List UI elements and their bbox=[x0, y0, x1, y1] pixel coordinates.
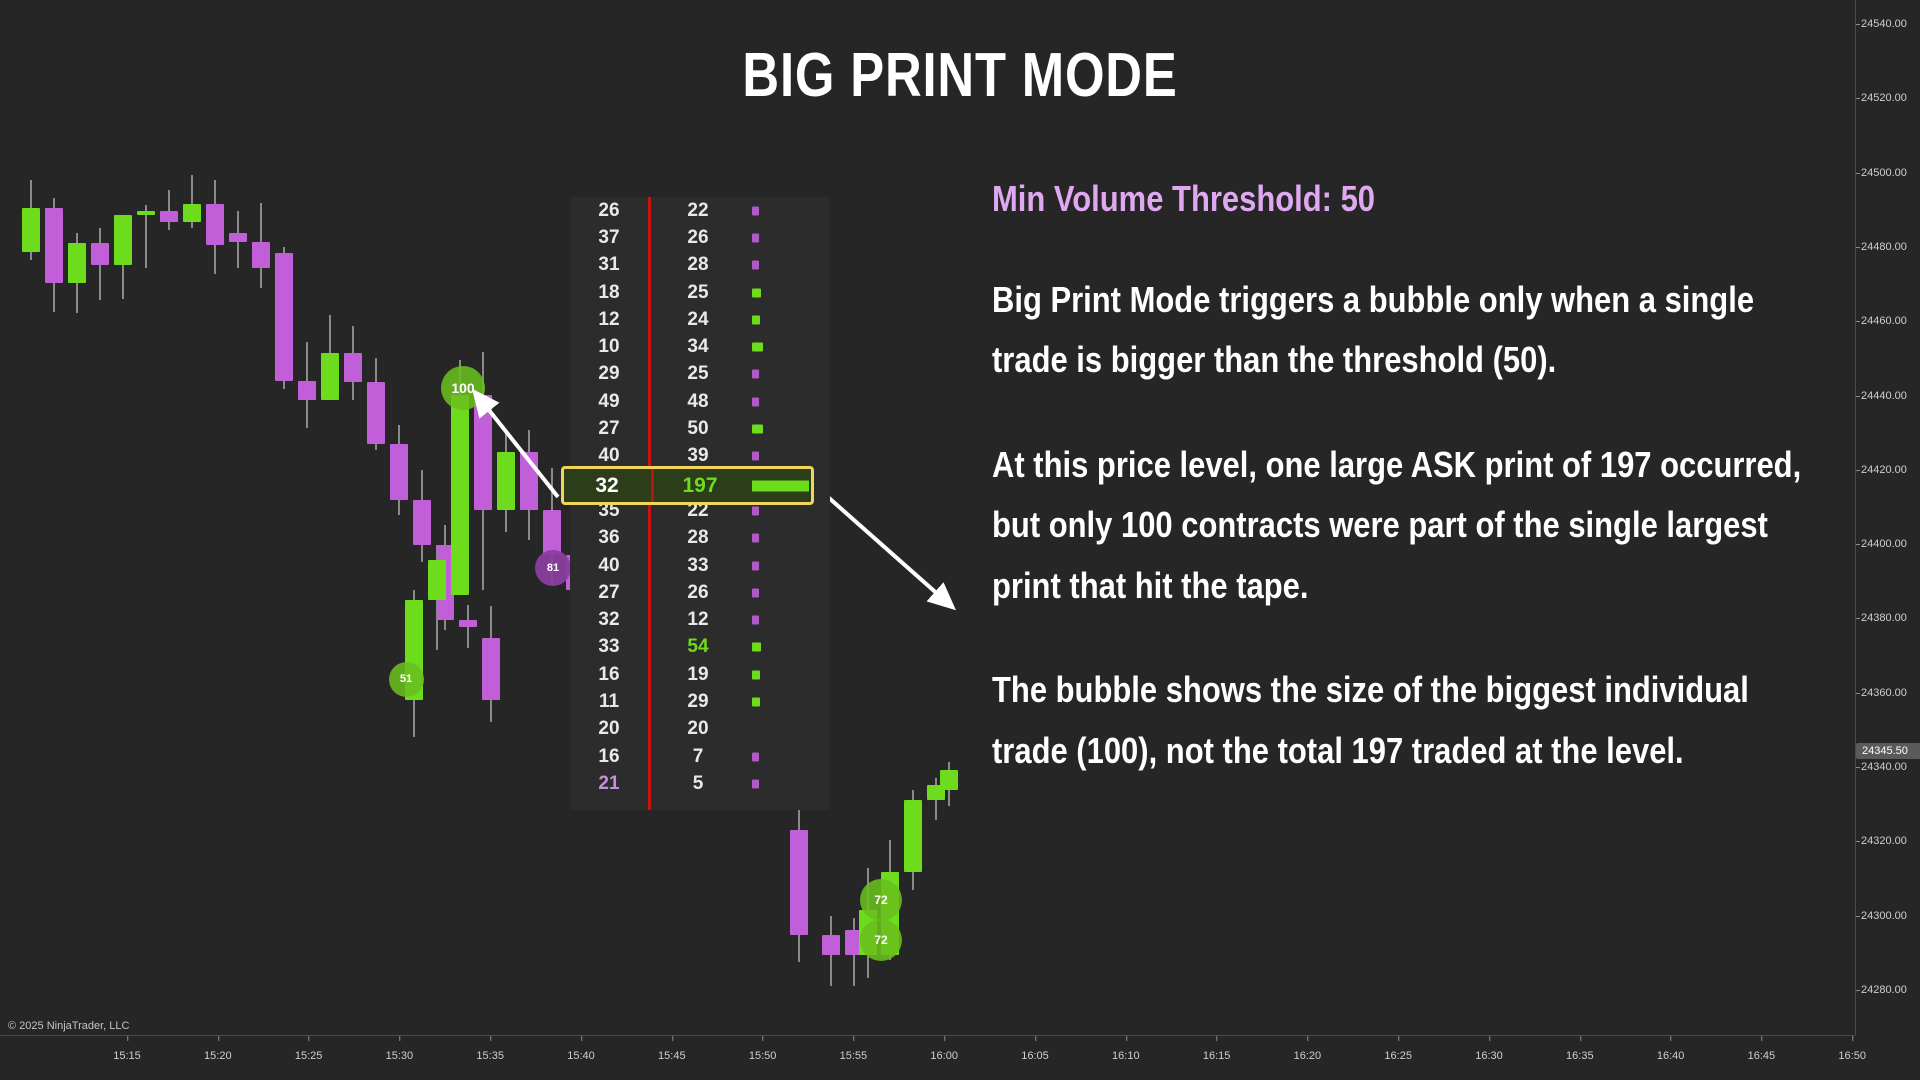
ladder-volume-bar bbox=[752, 752, 759, 761]
price-tick-label: 24440.00 bbox=[1861, 390, 1907, 402]
ladder-bar-cell bbox=[748, 415, 830, 442]
candle-body-up bbox=[22, 208, 40, 252]
ladder-bid-value: 11 bbox=[570, 691, 648, 713]
ladder-volume-bar bbox=[752, 343, 763, 352]
candle-body-down bbox=[229, 233, 247, 242]
price-tick-label: 24500.00 bbox=[1861, 167, 1907, 179]
volume-bubble[interactable]: 72 bbox=[860, 919, 902, 961]
ladder-bar-cell bbox=[748, 770, 830, 797]
highlighted-print-row[interactable]: 32 197 bbox=[561, 466, 814, 505]
price-axis: 24540.0024520.0024500.0024480.0024460.00… bbox=[1855, 0, 1920, 1035]
ladder-volume-bar bbox=[752, 643, 761, 652]
time-tick-label: 15:55 bbox=[840, 1050, 868, 1062]
candle bbox=[206, 180, 224, 274]
ladder-row[interactable]: 2622 bbox=[570, 197, 830, 224]
price-tick-label: 24400.00 bbox=[1861, 538, 1907, 550]
candle bbox=[183, 175, 201, 228]
candle-body-down bbox=[252, 242, 270, 268]
ladder-ask-value: 34 bbox=[648, 336, 748, 358]
ladder-bid-value: 26 bbox=[570, 200, 648, 222]
highlight-bar-cell bbox=[750, 469, 811, 502]
ladder-ask-value: 26 bbox=[648, 227, 748, 249]
highlight-centerline bbox=[651, 469, 654, 502]
ladder-row[interactable]: 3354 bbox=[570, 634, 830, 661]
time-tick-label: 15:40 bbox=[567, 1050, 595, 1062]
min-volume-threshold-label: Min Volume Threshold: 50 bbox=[992, 178, 1714, 220]
paragraph-1: Big Print Mode triggers a bubble only wh… bbox=[992, 270, 1831, 391]
highlight-ask-value: 197 bbox=[650, 474, 750, 498]
ladder-row[interactable]: 1825 bbox=[570, 279, 830, 306]
paragraph-2: At this price level, one large ASK print… bbox=[992, 435, 1831, 616]
ladder-ask-value: 48 bbox=[648, 391, 748, 413]
ladder-ask-value: 22 bbox=[648, 200, 748, 222]
candle bbox=[822, 916, 840, 986]
ladder-bar-cell bbox=[748, 252, 830, 279]
ladder-bid-value: 27 bbox=[570, 418, 648, 440]
ladder-volume-bar bbox=[752, 233, 759, 242]
candle bbox=[229, 211, 247, 268]
volume-bubble[interactable]: 81 bbox=[535, 550, 571, 586]
time-axis: 15:1515:2015:2515:3015:3515:4015:4515:50… bbox=[0, 1035, 1855, 1080]
candle-body-down bbox=[413, 500, 431, 545]
ladder-row[interactable]: 2726 bbox=[570, 579, 830, 606]
ladder-bar-cell bbox=[748, 743, 830, 770]
candle bbox=[275, 247, 293, 389]
time-tick-label: 16:20 bbox=[1294, 1050, 1322, 1062]
candle-body-up bbox=[68, 243, 86, 283]
price-tick-label: 24480.00 bbox=[1861, 241, 1907, 253]
candle bbox=[520, 430, 538, 540]
ladder-bar-cell bbox=[748, 361, 830, 388]
time-tick-label: 16:05 bbox=[1021, 1050, 1049, 1062]
candle bbox=[940, 762, 958, 806]
ladder-bar-cell bbox=[748, 688, 830, 715]
candle bbox=[482, 606, 500, 722]
candle-body-down bbox=[298, 381, 316, 400]
ladder-bid-value: 40 bbox=[570, 445, 648, 467]
highlight-bid-value: 32 bbox=[564, 474, 650, 498]
candle-body-up bbox=[114, 215, 132, 265]
time-tick-label: 15:25 bbox=[295, 1050, 323, 1062]
ladder-ask-value: 28 bbox=[648, 527, 748, 549]
candle bbox=[790, 806, 808, 962]
explanation-panel: Min Volume Threshold: 50 Big Print Mode … bbox=[992, 178, 1832, 825]
price-tick-label: 24460.00 bbox=[1861, 315, 1907, 327]
time-tick-label: 15:15 bbox=[113, 1050, 141, 1062]
candle bbox=[904, 790, 922, 890]
candle bbox=[91, 228, 109, 300]
ladder-bar-cell bbox=[748, 279, 830, 306]
ladder-bar-cell bbox=[748, 224, 830, 251]
time-tick-label: 16:30 bbox=[1475, 1050, 1503, 1062]
time-tick-label: 16:40 bbox=[1657, 1050, 1685, 1062]
candle-body-down bbox=[822, 935, 840, 955]
candle-body-down bbox=[206, 204, 224, 245]
candle bbox=[497, 432, 515, 532]
time-tick-label: 16:15 bbox=[1203, 1050, 1231, 1062]
time-tick-label: 16:25 bbox=[1384, 1050, 1412, 1062]
candle bbox=[321, 315, 339, 395]
candle bbox=[137, 205, 155, 268]
candle-body-down bbox=[45, 208, 63, 283]
ladder-bar-cell bbox=[748, 716, 830, 743]
ladder-volume-bar bbox=[752, 506, 759, 515]
time-tick-label: 16:45 bbox=[1748, 1050, 1776, 1062]
candle bbox=[390, 425, 408, 515]
time-tick-label: 16:35 bbox=[1566, 1050, 1594, 1062]
candle-body-down bbox=[160, 211, 178, 222]
ladder-row[interactable]: 2020 bbox=[570, 716, 830, 743]
volume-bubble[interactable]: 100 bbox=[441, 366, 485, 410]
ladder-row[interactable]: 1129 bbox=[570, 688, 830, 715]
ladder-bid-value: 16 bbox=[570, 664, 648, 686]
ladder-volume-bar bbox=[752, 534, 759, 543]
candle-body-down bbox=[790, 830, 808, 935]
ladder-row[interactable]: 3628 bbox=[570, 525, 830, 552]
ladder-bid-value: 37 bbox=[570, 227, 648, 249]
ladder-row[interactable]: 2750 bbox=[570, 415, 830, 442]
ladder-ask-value: 54 bbox=[648, 636, 748, 658]
ladder-row[interactable]: 1034 bbox=[570, 334, 830, 361]
price-tick-label: 24540.00 bbox=[1861, 18, 1907, 30]
ladder-ask-value: 50 bbox=[648, 418, 748, 440]
time-tick-label: 15:20 bbox=[204, 1050, 232, 1062]
candle-body-up bbox=[428, 560, 446, 600]
price-tick-label: 24340.00 bbox=[1861, 761, 1907, 773]
copyright-notice: © 2025 NinjaTrader, LLC bbox=[8, 1020, 129, 1032]
ladder-volume-bar bbox=[752, 261, 759, 270]
ladder-bid-value: 12 bbox=[570, 309, 648, 331]
candle-body-down bbox=[91, 243, 109, 265]
candle bbox=[68, 233, 86, 313]
candle-body-up bbox=[451, 395, 469, 595]
ladder-bid-value: 21 bbox=[570, 773, 648, 795]
candle bbox=[45, 198, 63, 312]
candle-body-up bbox=[183, 204, 201, 222]
candle-body-down bbox=[367, 382, 385, 444]
last-price-marker: 24345.50 bbox=[1856, 743, 1920, 759]
candle bbox=[367, 358, 385, 450]
ladder-row[interactable]: 3212 bbox=[570, 607, 830, 634]
ladder-ask-value: 24 bbox=[648, 309, 748, 331]
ladder-bar-cell bbox=[748, 306, 830, 333]
ladder-row[interactable]: 215 bbox=[570, 770, 830, 797]
candle bbox=[252, 203, 270, 288]
ladder-row[interactable]: 167 bbox=[570, 743, 830, 770]
time-tick-label: 15:50 bbox=[749, 1050, 777, 1062]
time-tick-label: 16:00 bbox=[930, 1050, 958, 1062]
ladder-bid-value: 33 bbox=[570, 636, 648, 658]
ladder-ask-value: 12 bbox=[648, 609, 748, 631]
ladder-volume-bar bbox=[752, 397, 759, 406]
ladder-row[interactable]: 1224 bbox=[570, 306, 830, 333]
price-tick-label: 24300.00 bbox=[1861, 910, 1907, 922]
ladder-bar-cell bbox=[748, 388, 830, 415]
volume-bubble[interactable]: 51 bbox=[389, 662, 424, 697]
ladder-volume-bar bbox=[752, 315, 760, 324]
ladder-bid-value: 32 bbox=[570, 609, 648, 631]
candle-body-down bbox=[520, 452, 538, 510]
ladder-volume-bar bbox=[752, 698, 760, 707]
ladder-bar-cell bbox=[748, 661, 830, 688]
time-tick-label: 16:10 bbox=[1112, 1050, 1140, 1062]
time-tick-label: 15:45 bbox=[658, 1050, 686, 1062]
ladder-row[interactable]: 1619 bbox=[570, 661, 830, 688]
candle bbox=[114, 221, 132, 299]
price-tick-label: 24380.00 bbox=[1861, 612, 1907, 624]
ladder-bid-value: 40 bbox=[570, 555, 648, 577]
ladder-volume-bar bbox=[752, 288, 761, 297]
candle-body-down bbox=[344, 353, 362, 382]
highlight-volume-bar bbox=[752, 480, 809, 491]
ladder-row[interactable]: 2925 bbox=[570, 361, 830, 388]
ladder-volume-bar bbox=[752, 206, 759, 215]
ladder-bar-cell bbox=[748, 197, 830, 224]
price-tick-label: 24280.00 bbox=[1861, 984, 1907, 996]
candle bbox=[160, 190, 178, 230]
ladder-bar-cell bbox=[748, 525, 830, 552]
ladder-ask-value: 29 bbox=[648, 691, 748, 713]
page-title: BIG PRINT MODE bbox=[173, 40, 1747, 111]
candle-body-up bbox=[940, 770, 958, 790]
price-tick-label: 24520.00 bbox=[1861, 92, 1907, 104]
candle bbox=[344, 326, 362, 400]
paragraph-3: The bubble shows the size of the biggest… bbox=[992, 660, 1831, 781]
candle-body-down bbox=[459, 620, 477, 627]
ladder-ask-value: 20 bbox=[648, 718, 748, 740]
candle-body-down bbox=[482, 638, 500, 700]
ladder-bar-cell bbox=[748, 634, 830, 661]
volume-bubble[interactable]: 72 bbox=[860, 879, 902, 921]
ladder-bid-value: 49 bbox=[570, 391, 648, 413]
ladder-bid-value: 18 bbox=[570, 282, 648, 304]
ladder-volume-bar bbox=[752, 670, 760, 679]
ladder-bid-value: 29 bbox=[570, 363, 648, 385]
ladder-volume-bar bbox=[752, 588, 759, 597]
price-tick-label: 24420.00 bbox=[1861, 464, 1907, 476]
ladder-bid-value: 20 bbox=[570, 718, 648, 740]
ladder-ask-value: 26 bbox=[648, 582, 748, 604]
ladder-ask-value: 33 bbox=[648, 555, 748, 577]
time-tick-label: 15:35 bbox=[476, 1050, 504, 1062]
candle bbox=[298, 342, 316, 428]
ladder-volume-bar bbox=[752, 561, 759, 570]
ladder-bar-cell bbox=[748, 552, 830, 579]
ladder-ask-value: 19 bbox=[648, 664, 748, 686]
candle-body-up bbox=[137, 211, 155, 215]
ladder-bid-value: 31 bbox=[570, 254, 648, 276]
ladder-row[interactable]: 4948 bbox=[570, 388, 830, 415]
ladder-volume-bar bbox=[752, 452, 759, 461]
ladder-bid-value: 27 bbox=[570, 582, 648, 604]
candle-body-down bbox=[275, 253, 293, 381]
ladder-ask-value: 25 bbox=[648, 282, 748, 304]
ladder-row[interactable]: 3726 bbox=[570, 224, 830, 251]
ladder-volume-bar bbox=[752, 779, 759, 788]
ladder-bar-cell bbox=[748, 334, 830, 361]
time-tick-label: 15:30 bbox=[386, 1050, 414, 1062]
ladder-bid-value: 10 bbox=[570, 336, 648, 358]
ladder-row[interactable]: 3128 bbox=[570, 252, 830, 279]
candle-body-down bbox=[543, 510, 561, 555]
ladder-bid-value: 36 bbox=[570, 527, 648, 549]
price-tick-label: 24320.00 bbox=[1861, 835, 1907, 847]
ladder-ask-value: 39 bbox=[648, 445, 748, 467]
ladder-volume-bar bbox=[752, 370, 759, 379]
candle bbox=[428, 548, 446, 650]
time-tick-label: 16:50 bbox=[1838, 1050, 1866, 1062]
ladder-bar-cell bbox=[748, 579, 830, 606]
candle-wick bbox=[168, 190, 170, 230]
candle-body-up bbox=[904, 800, 922, 872]
candle-body-up bbox=[497, 452, 515, 510]
ladder-bid-value: 16 bbox=[570, 746, 648, 768]
screenshot-root: 24540.0024520.0024500.0024480.0024460.00… bbox=[0, 0, 1920, 1080]
ladder-ask-value: 25 bbox=[648, 363, 748, 385]
ladder-ask-value: 7 bbox=[648, 746, 748, 768]
ladder-row[interactable]: 4033 bbox=[570, 552, 830, 579]
ladder-volume-bar bbox=[752, 616, 759, 625]
price-tick-label: 24360.00 bbox=[1861, 687, 1907, 699]
ladder-ask-value: 28 bbox=[648, 254, 748, 276]
candle-body-down bbox=[474, 395, 492, 510]
candle bbox=[459, 605, 477, 648]
candle-body-up bbox=[321, 353, 339, 400]
ladder-ask-value: 5 bbox=[648, 773, 748, 795]
candle bbox=[22, 180, 40, 260]
ladder-bar-cell bbox=[748, 607, 830, 634]
candle-body-down bbox=[390, 444, 408, 500]
ladder-volume-bar bbox=[752, 425, 763, 434]
